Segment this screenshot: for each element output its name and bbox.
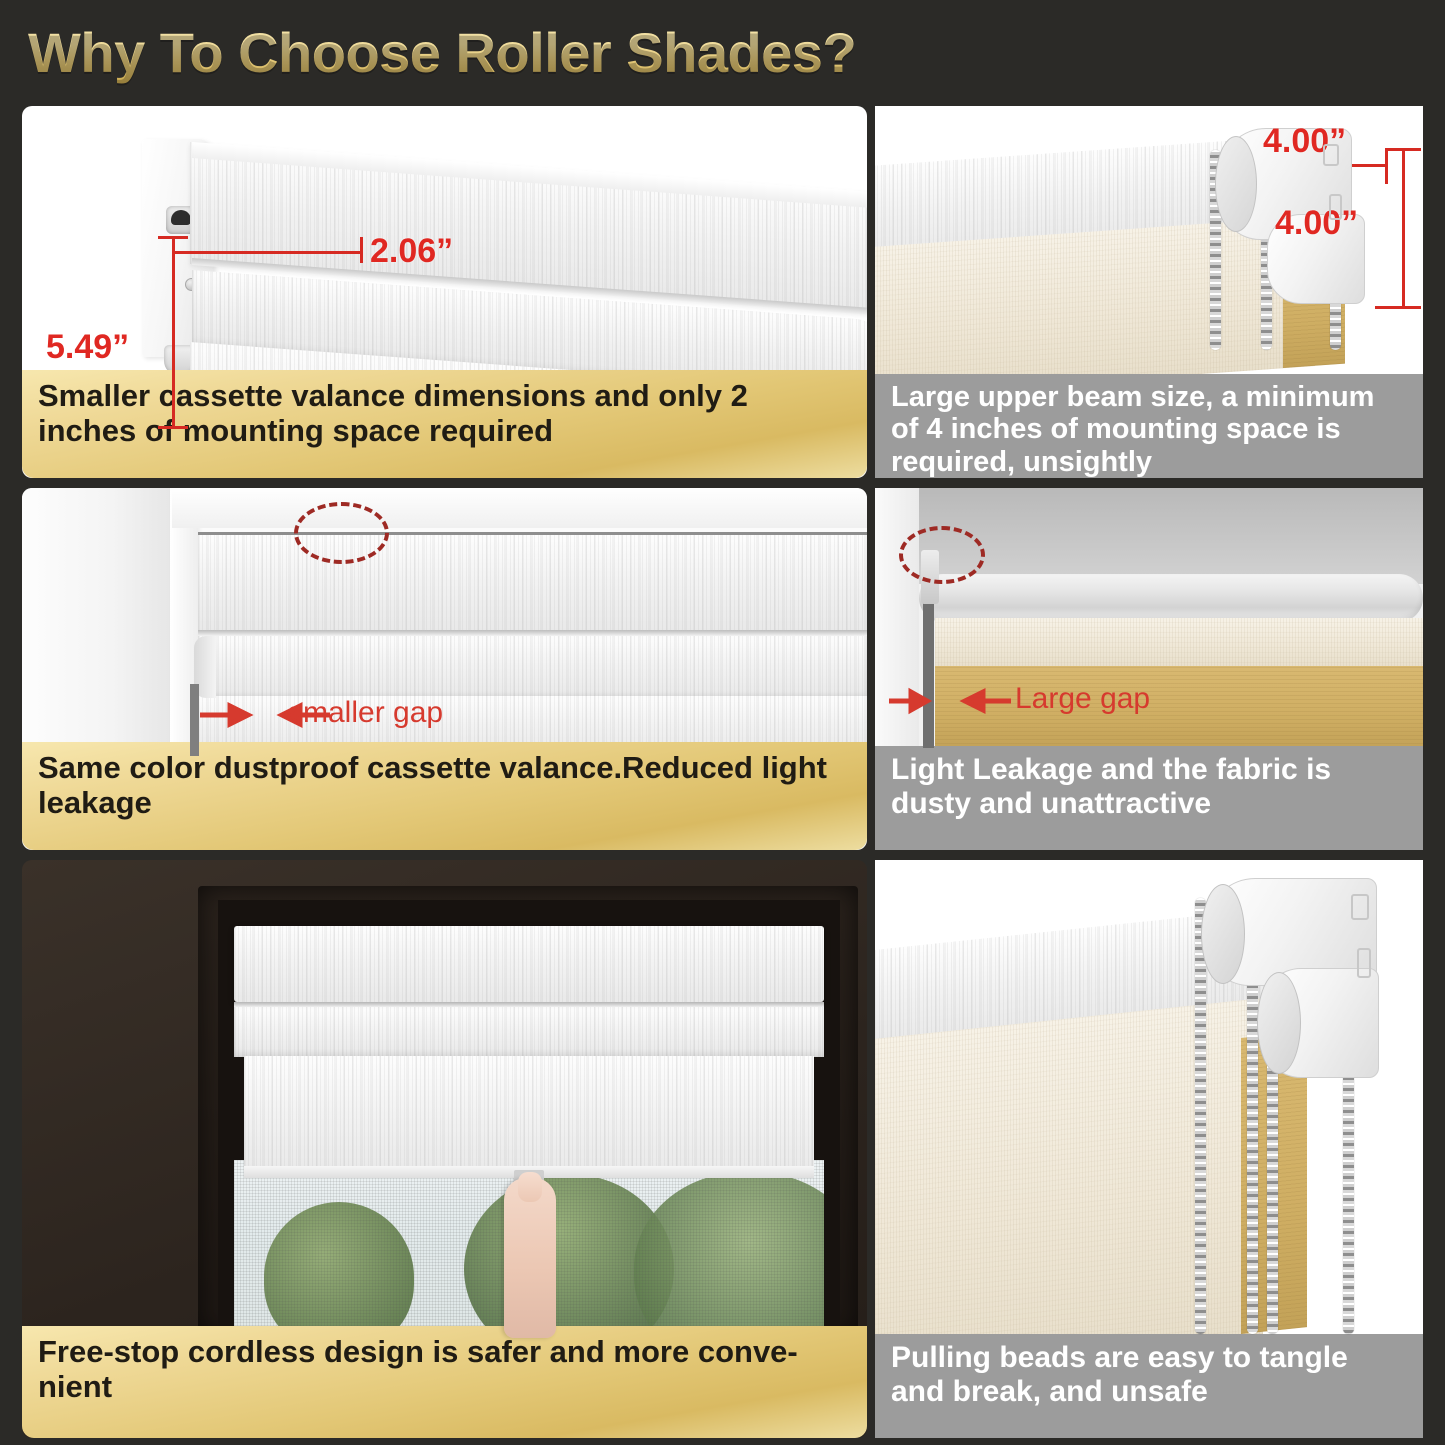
- bead-chain-middle[interactable]: [1247, 980, 1258, 1334]
- panel-pro-cassette-dimensions: 5.49” 2.06” Smaller cassette valance dim…: [22, 106, 867, 478]
- height-dim-line-2: [1402, 148, 1405, 308]
- bead-chain-right[interactable]: [1343, 1072, 1354, 1334]
- width-dim-tick-right: [1385, 150, 1388, 184]
- large-gap-arrow-right-icon: [945, 686, 1011, 716]
- height-dim-tick-bottom-2: [1375, 306, 1421, 309]
- bracket-slot-top: [1323, 144, 1339, 166]
- smaller-gap-label: smaller gap: [288, 696, 443, 730]
- panel-con-pulling-beads: Pulling beads are easy to tangle and bre…: [875, 860, 1423, 1438]
- pro-caption-row1: Smaller cassette valance dimensions and …: [22, 370, 867, 478]
- roller-tube: [919, 574, 1423, 622]
- large-gap-label: Large gap: [1015, 682, 1150, 716]
- large-gap-arrow-left-icon: [889, 686, 949, 716]
- comparison-grid: 5.49” 2.06” Smaller cassette valance dim…: [22, 106, 1423, 1426]
- gap-strip: [190, 684, 199, 756]
- height-dimension-label-2: 4.00”: [1275, 204, 1358, 243]
- panel-pro-cordless: Free-stop cordless design is safer and m…: [22, 860, 867, 1438]
- beads-end-disc-top: [1201, 884, 1245, 984]
- beads-bracket-slot-2: [1357, 948, 1371, 978]
- height-dim-line: [172, 236, 175, 426]
- hand: [504, 1178, 556, 1338]
- panel-con-large-gap: Large gap Light Leakage and the fabric i…: [875, 488, 1423, 850]
- con-caption-row3: Pulling beads are easy to tangle and bre…: [875, 1334, 1423, 1438]
- header: Why To Choose Roller Shades?: [0, 0, 1445, 104]
- page-title: Why To Choose Roller Shades?: [28, 20, 856, 85]
- hand-fingers: [518, 1172, 542, 1202]
- height-dim-tick-bottom: [158, 426, 188, 429]
- window-head-molding: [172, 488, 867, 528]
- beads-bracket-slot-1: [1351, 894, 1369, 920]
- cordless-shade-fabric: [244, 1056, 814, 1174]
- depth-dimension-label: 2.06”: [370, 232, 453, 271]
- window-jamb: [22, 488, 172, 748]
- shade-cream-fabric: [875, 216, 1315, 397]
- panel-con-large-beam: 4.00” 4.00” Large upper beam size, a min…: [875, 106, 1423, 478]
- valance-groove: [198, 630, 867, 636]
- height-dimension-label: 5.49”: [46, 328, 129, 367]
- valance-roll: [198, 636, 867, 698]
- pro-caption-row2: Same color dustproof cassette valance.Re…: [22, 742, 867, 850]
- seam-highlight-ellipse: [294, 502, 389, 564]
- large-gap-strip: [923, 584, 934, 748]
- panel-pro-smaller-gap: smaller gap Same color dustproof cassett…: [22, 488, 867, 850]
- gap-highlight-ellipse: [899, 526, 985, 584]
- cordless-valance-roll: [234, 1007, 824, 1057]
- valance-band: [198, 535, 867, 630]
- bracket-slot-bottom: [1329, 194, 1342, 220]
- depth-dim-tick-left: [172, 237, 175, 263]
- con-caption-row2: Light Leakage and the fabric is dusty an…: [875, 746, 1423, 850]
- height-dim-tick-top-2: [1385, 148, 1421, 151]
- con-caption-row1: Large upper beam size, a minimum of 4 in…: [875, 374, 1423, 478]
- depth-dim-tick-right: [360, 237, 363, 263]
- bead-chain-3[interactable]: [1330, 296, 1341, 350]
- roller-end-disc: [1215, 136, 1257, 232]
- depth-dim-line: [172, 251, 362, 254]
- cordless-valance: [234, 926, 824, 1002]
- pro-caption-row3: Free-stop cordless design is safer and m…: [22, 1326, 867, 1438]
- beads-end-disc-bottom: [1257, 972, 1301, 1074]
- shade-cream-upper: [935, 618, 1423, 668]
